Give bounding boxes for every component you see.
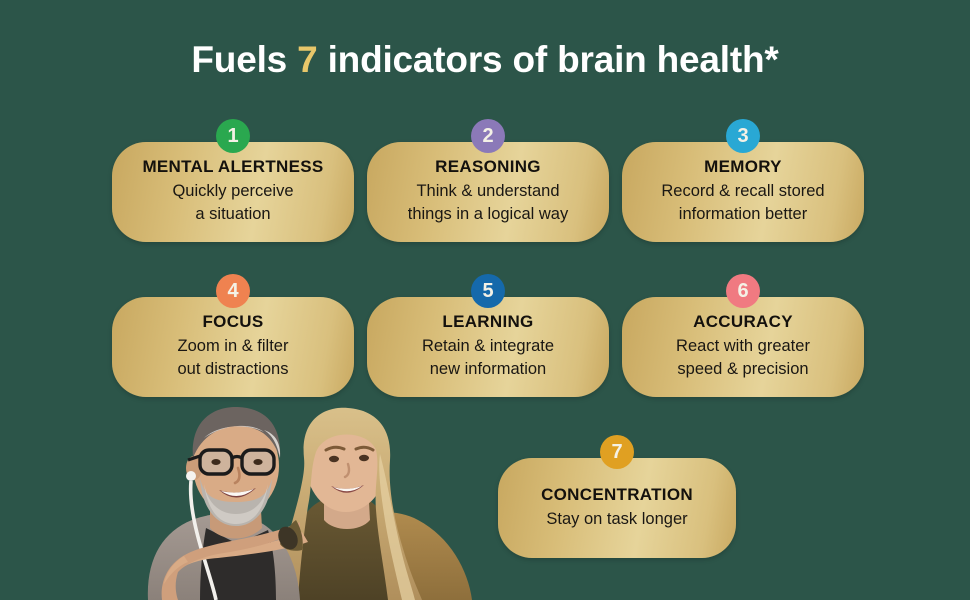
- indicator-card-1-title: MENTAL ALERTNESS: [142, 156, 323, 178]
- couple-photo: [88, 392, 488, 600]
- indicator-card-5-desc-line2: new information: [430, 358, 546, 381]
- indicator-badge-3-number: 3: [737, 126, 748, 146]
- indicator-card-5: LEARNING Retain & integrate new informat…: [367, 297, 609, 397]
- indicator-card-3-desc-line1: Record & recall stored: [661, 180, 824, 203]
- indicator-badge-1-number: 1: [227, 126, 238, 146]
- indicator-card-7: CONCENTRATION Stay on task longer: [498, 458, 736, 558]
- indicator-card-4-title: FOCUS: [203, 311, 264, 333]
- indicator-card-4-desc-line2: out distractions: [178, 358, 289, 381]
- indicator-badge-4-number: 4: [227, 281, 238, 301]
- title-text-after: indicators of brain health*: [318, 39, 779, 80]
- indicator-badge-5: 5: [471, 274, 505, 308]
- indicator-card-3: MEMORY Record & recall stored informatio…: [622, 142, 864, 242]
- indicator-badge-2-number: 2: [482, 126, 493, 146]
- indicator-badge-4: 4: [216, 274, 250, 308]
- indicator-badge-2: 2: [471, 119, 505, 153]
- indicator-badge-7: 7: [600, 435, 634, 469]
- title-text-before: Fuels: [191, 39, 297, 80]
- indicator-card-7-title: CONCENTRATION: [541, 484, 693, 506]
- indicator-card-1-desc-line1: Quickly perceive: [172, 180, 293, 203]
- indicator-card-4: FOCUS Zoom in & filter out distractions: [112, 297, 354, 397]
- indicator-badge-7-number: 7: [611, 442, 622, 462]
- title-number: 7: [297, 39, 317, 80]
- indicator-card-2-desc-line2: things in a logical way: [408, 203, 569, 226]
- indicator-card-6-title: ACCURACY: [693, 311, 793, 333]
- indicator-card-2: REASONING Think & understand things in a…: [367, 142, 609, 242]
- indicator-card-1: MENTAL ALERTNESS Quickly perceive a situ…: [112, 142, 354, 242]
- indicator-badge-6-number: 6: [737, 281, 748, 301]
- page-title: Fuels 7 indicators of brain health*: [0, 38, 970, 82]
- indicator-card-2-desc-line1: Think & understand: [416, 180, 559, 203]
- indicator-badge-1: 1: [216, 119, 250, 153]
- indicator-badge-5-number: 5: [482, 281, 493, 301]
- indicator-card-6-desc-line2: speed & precision: [677, 358, 808, 381]
- indicator-card-6-desc-line1: React with greater: [676, 335, 810, 358]
- brain-health-infographic: Fuels 7 indicators of brain health* MENT…: [0, 0, 970, 600]
- indicator-card-1-desc-line2: a situation: [195, 203, 270, 226]
- indicator-card-2-title: REASONING: [435, 156, 541, 178]
- indicator-card-4-desc-line1: Zoom in & filter: [178, 335, 289, 358]
- indicator-card-3-title: MEMORY: [704, 156, 782, 178]
- indicator-card-5-desc-line1: Retain & integrate: [422, 335, 554, 358]
- indicator-badge-3: 3: [726, 119, 760, 153]
- indicator-card-7-desc-line1: Stay on task longer: [546, 508, 687, 531]
- indicator-card-6: ACCURACY React with greater speed & prec…: [622, 297, 864, 397]
- indicator-card-5-title: LEARNING: [442, 311, 533, 333]
- couple-photo-illustration: [88, 392, 488, 600]
- indicator-card-3-desc-line2: information better: [679, 203, 807, 226]
- indicator-badge-6: 6: [726, 274, 760, 308]
